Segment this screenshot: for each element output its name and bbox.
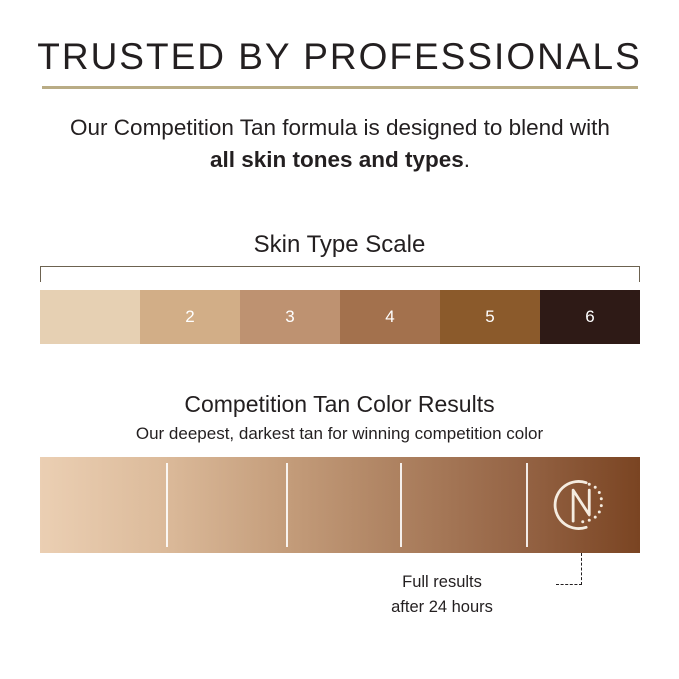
subtitle-bold-text: all skin tones and types <box>210 147 464 172</box>
subtitle-normal-text: Our Competition Tan formula is designed … <box>70 115 610 140</box>
infographic-page: TRUSTED BY PROFESSIONALS Our Competition… <box>0 0 679 679</box>
skin-type-swatch-row: 2 3 4 5 6 <box>40 290 640 344</box>
results-subheading: Our deepest, darkest tan for winning com… <box>0 424 679 444</box>
skin-swatch-label-4: 4 <box>385 307 394 327</box>
skin-swatch-2: 2 <box>140 290 240 344</box>
subtitle: Our Competition Tan formula is designed … <box>55 112 625 176</box>
annotation-line-1: Full results <box>330 570 554 595</box>
skin-swatch-label-2: 2 <box>185 307 194 327</box>
skin-swatch-3: 3 <box>240 290 340 344</box>
skin-swatch-5: 5 <box>440 290 540 344</box>
skin-swatch-label-6: 6 <box>585 307 594 327</box>
results-heading: Competition Tan Color Results <box>0 391 679 418</box>
page-title: TRUSTED BY PROFESSIONALS <box>0 36 679 79</box>
full-results-annotation: Full results after 24 hours <box>330 570 554 620</box>
skin-swatch-1 <box>40 290 140 344</box>
gradient-tick-2 <box>286 463 288 547</box>
gradient-tick-1 <box>166 463 168 547</box>
cn-brand-logo-icon <box>544 474 606 536</box>
skin-swatch-4: 4 <box>340 290 440 344</box>
skin-type-scale-heading: Skin Type Scale <box>0 231 679 259</box>
skin-swatch-label-5: 5 <box>485 307 494 327</box>
gradient-tick-4 <box>526 463 528 547</box>
skin-swatch-6: 6 <box>540 290 640 344</box>
gradient-tick-3 <box>400 463 402 547</box>
tan-gradient-bar <box>40 457 640 553</box>
annotation-line-2: after 24 hours <box>330 595 554 620</box>
full-results-callout-bracket <box>556 553 582 585</box>
title-divider <box>42 86 638 89</box>
subtitle-end-text: . <box>464 147 470 172</box>
skin-swatch-label-3: 3 <box>285 307 294 327</box>
skin-scale-bracket <box>40 266 640 282</box>
